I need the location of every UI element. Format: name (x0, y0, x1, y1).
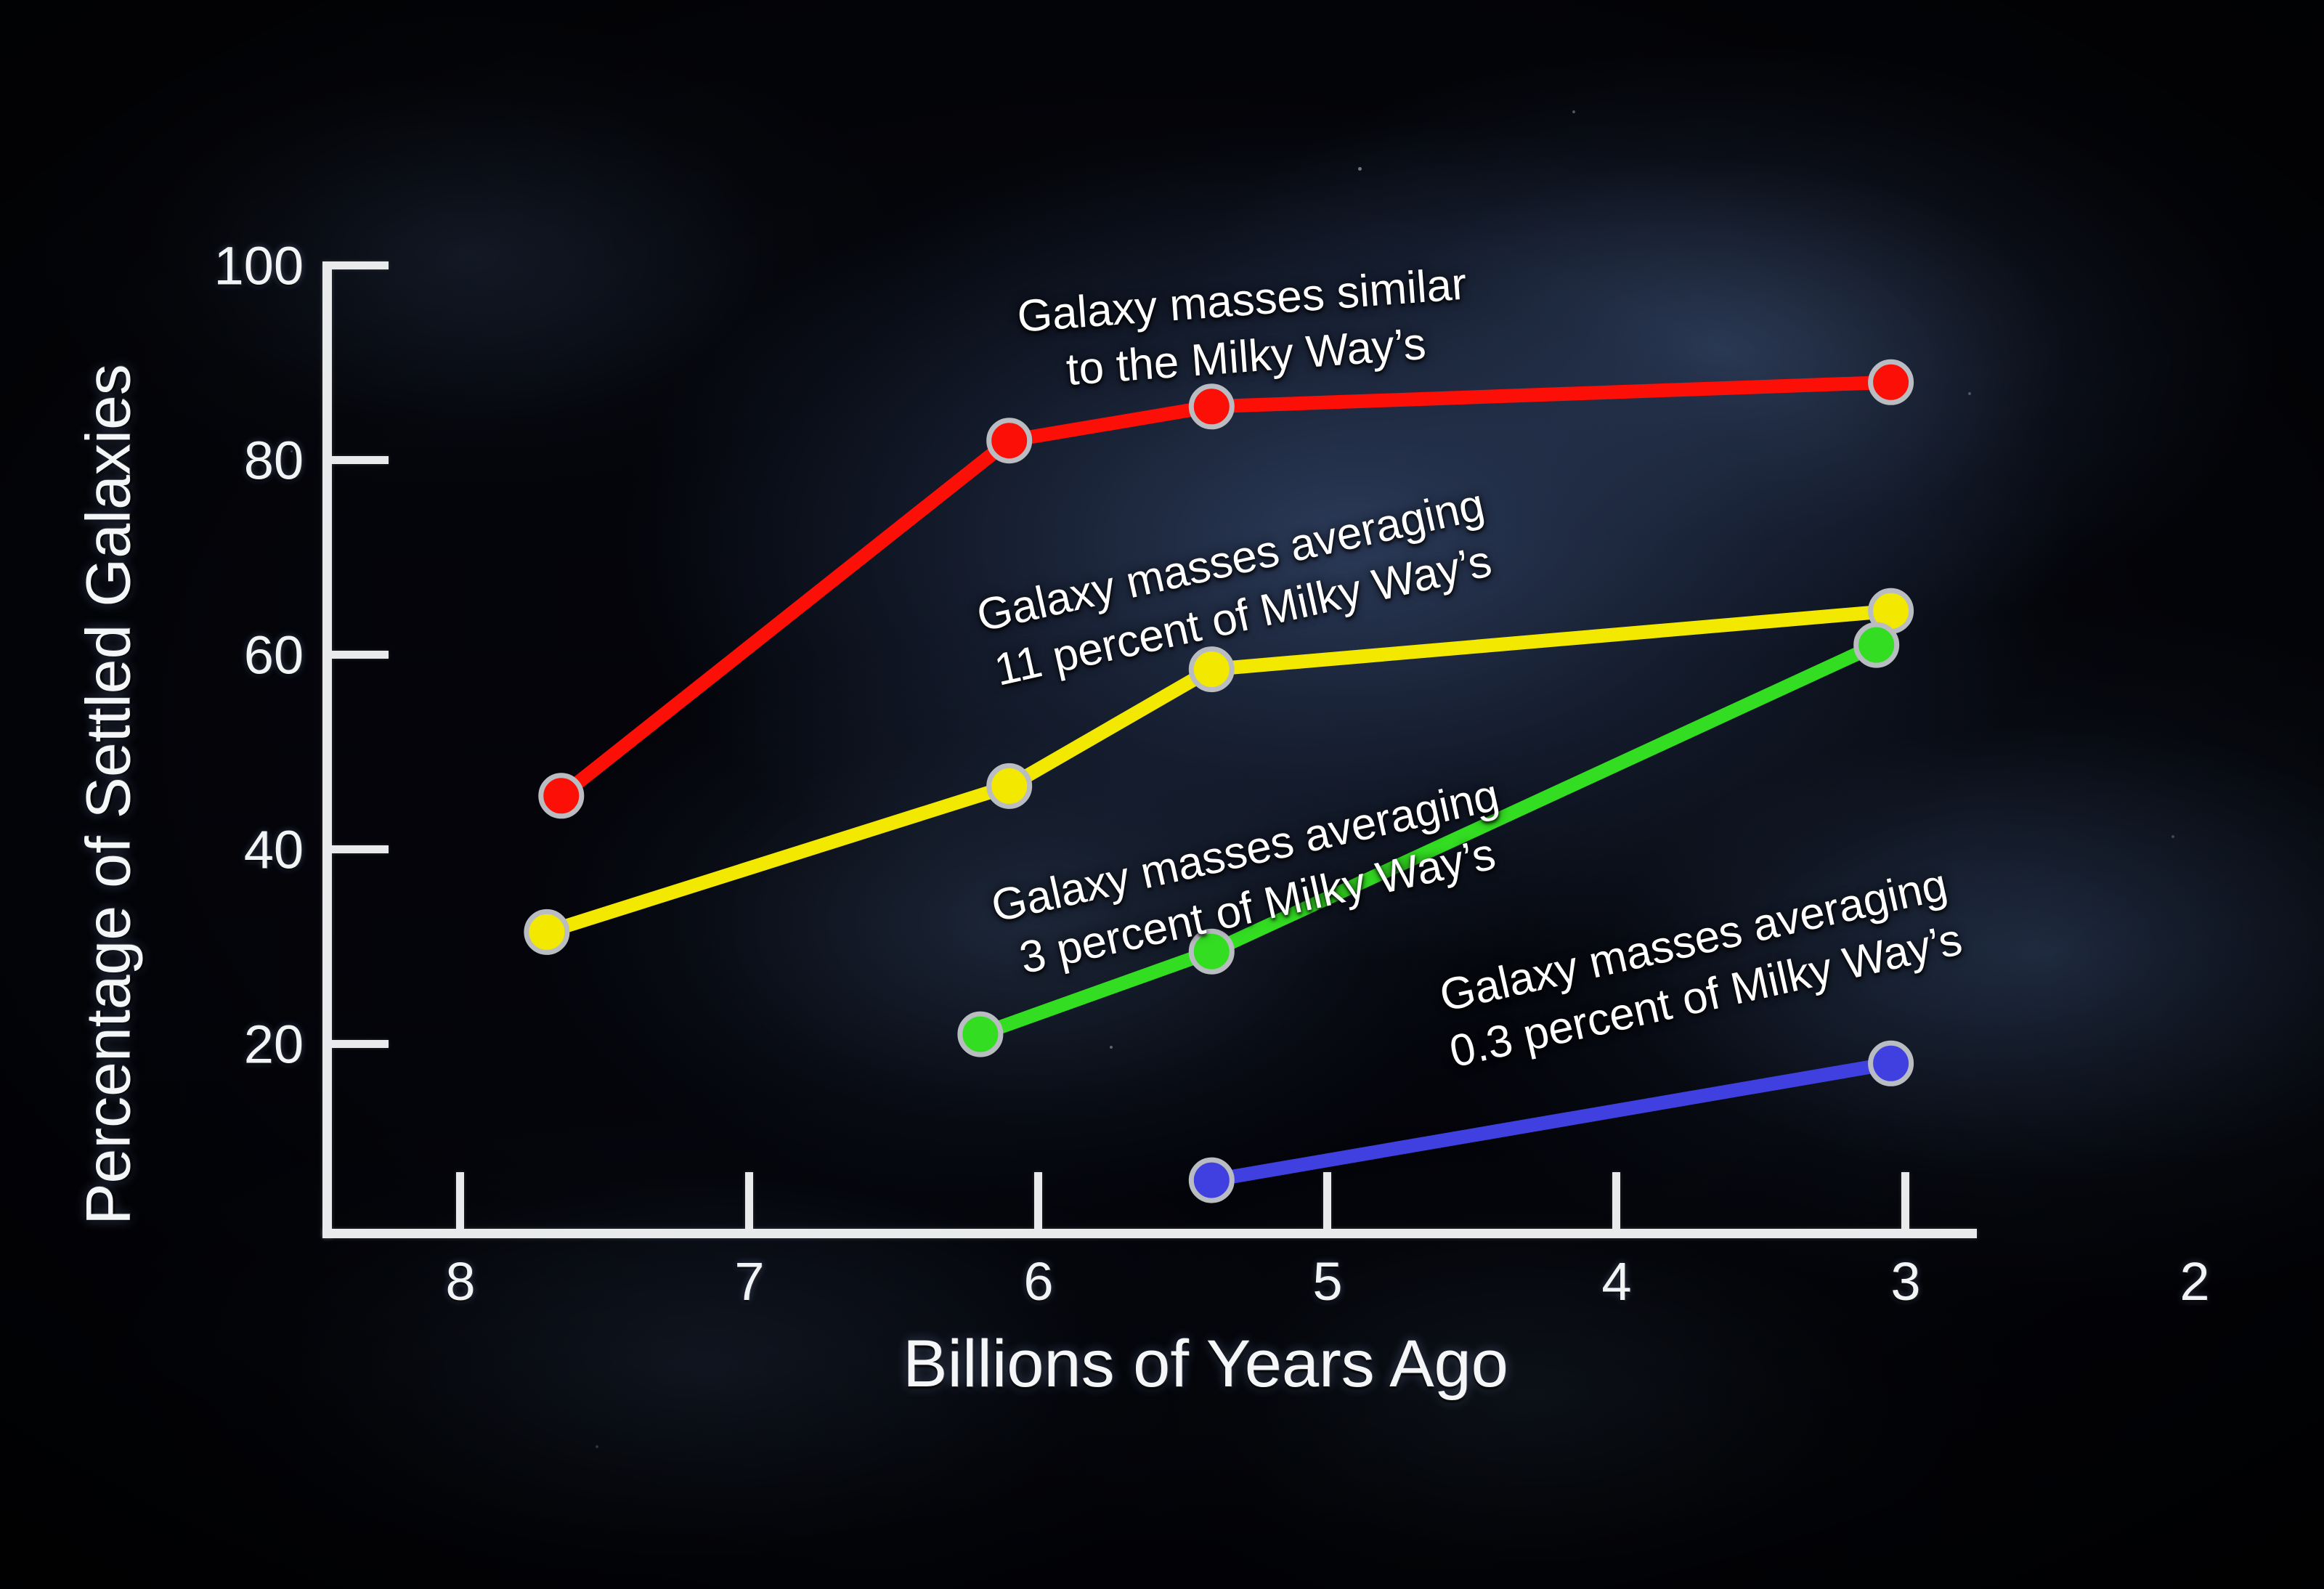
data-point-marker[interactable] (960, 1014, 1001, 1054)
plot-area: 100 80 60 40 20 8 7 6 5 4 3 2 Percentage… (0, 0, 2324, 1589)
data-point-marker[interactable] (1191, 1160, 1232, 1200)
data-point-marker[interactable] (1871, 1043, 1911, 1084)
data-point-marker[interactable] (1191, 386, 1232, 427)
figure-canvas: 100 80 60 40 20 8 7 6 5 4 3 2 Percentage… (0, 0, 2324, 1589)
series-layer (0, 0, 2324, 1589)
data-point-marker[interactable] (541, 776, 582, 816)
data-point-marker[interactable] (989, 765, 1030, 806)
data-point-marker[interactable] (989, 420, 1030, 461)
series-line-blue (1191, 1043, 1911, 1200)
series-polyline (1211, 1063, 1890, 1180)
data-point-marker[interactable] (1871, 362, 1911, 402)
data-point-marker[interactable] (1856, 625, 1897, 665)
data-point-marker[interactable] (527, 911, 567, 952)
